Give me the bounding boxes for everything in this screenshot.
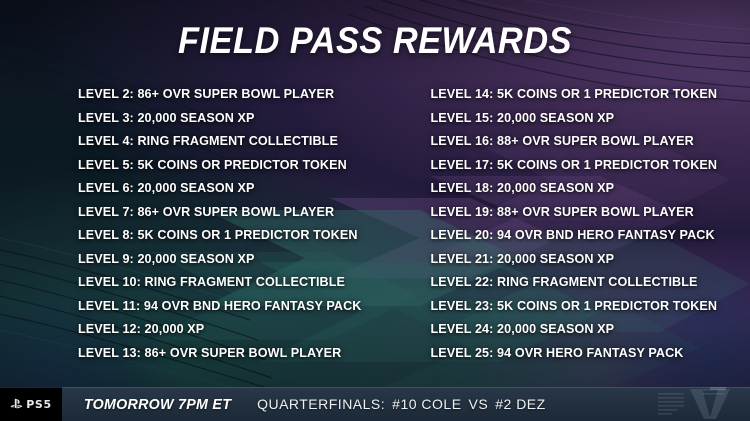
player-two-label: #2 DEZ bbox=[495, 396, 545, 412]
reward-item: LEVEL 3: 20,000 SEASON XP bbox=[78, 110, 398, 126]
broadcast-watermark-icon bbox=[650, 387, 746, 421]
schedule-text: TOMORROW 7PM ET bbox=[84, 396, 231, 413]
match-info: QUARTERFINALS:#10 COLEVS#2 DEZ bbox=[257, 396, 546, 412]
versus-label: VS bbox=[469, 396, 489, 412]
reward-item: LEVEL 23: 5K COINS OR 1 PREDICTOR TOKEN bbox=[431, 298, 750, 314]
player-one-label: #10 COLE bbox=[392, 396, 461, 412]
reward-item: LEVEL 2: 86+ OVR SUPER BOWL PLAYER bbox=[78, 86, 398, 102]
playstation-logo-icon bbox=[10, 398, 23, 410]
match-round-label: QUARTERFINALS: bbox=[257, 396, 385, 412]
reward-item: LEVEL 16: 88+ OVR SUPER BOWL PLAYER bbox=[431, 133, 750, 149]
bar-top-divider bbox=[0, 387, 750, 388]
rewards-columns: LEVEL 2: 86+ OVR SUPER BOWL PLAYER LEVEL… bbox=[0, 86, 750, 361]
reward-item: LEVEL 15: 20,000 SEASON XP bbox=[431, 110, 750, 126]
reward-item: LEVEL 4: RING FRAGMENT COLLECTIBLE bbox=[78, 133, 398, 149]
bottom-status-bar: PS5 TOMORROW 7PM ET QUARTERFINALS:#10 CO… bbox=[0, 387, 750, 421]
reward-item: LEVEL 9: 20,000 SEASON XP bbox=[78, 251, 398, 267]
reward-item: LEVEL 17: 5K COINS OR 1 PREDICTOR TOKEN bbox=[431, 157, 750, 173]
platform-label: PS5 bbox=[26, 398, 51, 411]
broadcast-overlay-screen: FIELD PASS REWARDS LEVEL 2: 86+ OVR SUPE… bbox=[0, 0, 750, 421]
reward-item: LEVEL 7: 86+ OVR SUPER BOWL PLAYER bbox=[78, 204, 398, 220]
reward-item: LEVEL 8: 5K COINS OR 1 PREDICTOR TOKEN bbox=[78, 227, 398, 243]
reward-item: LEVEL 5: 5K COINS OR PREDICTOR TOKEN bbox=[78, 157, 398, 173]
reward-item: LEVEL 10: RING FRAGMENT COLLECTIBLE bbox=[78, 274, 398, 290]
playstation-badge: PS5 bbox=[0, 387, 62, 421]
reward-item: LEVEL 13: 86+ OVR SUPER BOWL PLAYER bbox=[78, 345, 398, 361]
reward-item: LEVEL 14: 5K COINS OR 1 PREDICTOR TOKEN bbox=[431, 86, 750, 102]
reward-item: LEVEL 22: RING FRAGMENT COLLECTIBLE bbox=[431, 274, 750, 290]
rewards-right-column: LEVEL 14: 5K COINS OR 1 PREDICTOR TOKEN … bbox=[398, 86, 750, 361]
reward-item: LEVEL 6: 20,000 SEASON XP bbox=[78, 180, 398, 196]
reward-item: LEVEL 20: 94 OVR BND HERO FANTASY PACK bbox=[431, 227, 750, 243]
reward-item: LEVEL 19: 88+ OVR SUPER BOWL PLAYER bbox=[431, 204, 750, 220]
reward-item: LEVEL 11: 94 OVR BND HERO FANTASY PACK bbox=[78, 298, 398, 314]
reward-item: LEVEL 25: 94 OVR HERO FANTASY PACK bbox=[431, 345, 750, 361]
reward-item: LEVEL 18: 20,000 SEASON XP bbox=[431, 180, 750, 196]
reward-item: LEVEL 12: 20,000 XP bbox=[78, 321, 398, 337]
page-title: FIELD PASS REWARDS bbox=[26, 20, 724, 62]
reward-item: LEVEL 24: 20,000 SEASON XP bbox=[431, 321, 750, 337]
reward-item: LEVEL 21: 20,000 SEASON XP bbox=[431, 251, 750, 267]
rewards-left-column: LEVEL 2: 86+ OVR SUPER BOWL PLAYER LEVEL… bbox=[0, 86, 398, 361]
